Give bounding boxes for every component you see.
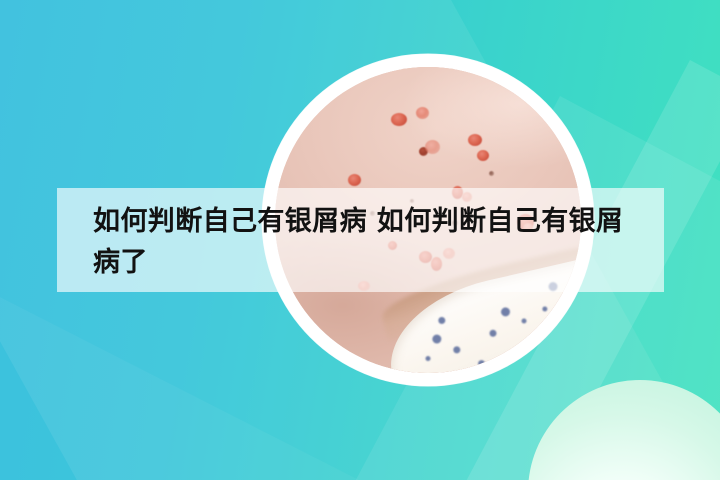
- headline-banner: 如何判断自己有银屑病 如何判断自己有银屑病了: [57, 188, 664, 292]
- decorative-corner-circle: [528, 380, 720, 480]
- floral-dot: [521, 318, 527, 324]
- floral-dot: [500, 307, 511, 318]
- floral-dot: [489, 329, 497, 337]
- headline-text: 如何判断自己有银屑病 如何判断自己有银屑病了: [93, 201, 641, 283]
- floral-dot: [542, 306, 548, 312]
- floral-dot: [453, 346, 461, 354]
- floral-dot: [537, 340, 543, 346]
- floral-dot: [432, 334, 443, 345]
- poster-canvas: 如何判断自己有银屑病 如何判断自己有银屑病了: [0, 0, 720, 480]
- floral-dot: [438, 317, 446, 325]
- floral-dot: [426, 356, 432, 362]
- skin-lesion: [477, 150, 489, 161]
- skin-lesion: [416, 107, 429, 119]
- floral-dot: [569, 293, 577, 301]
- floral-dot: [478, 360, 486, 368]
